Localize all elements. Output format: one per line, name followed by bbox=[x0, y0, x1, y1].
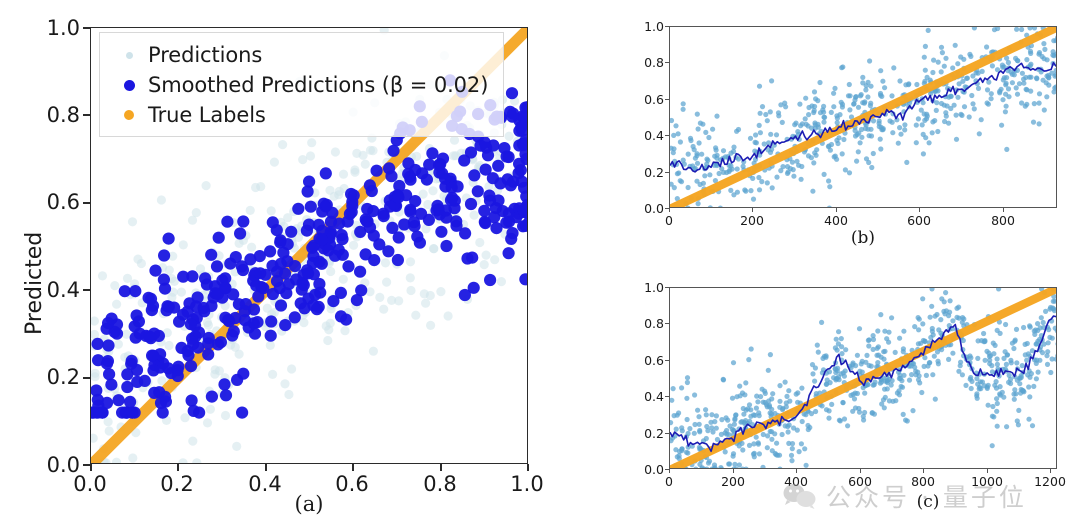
panel-a-xtickmark bbox=[265, 464, 267, 471]
legend-item-predictions[interactable]: Predictions bbox=[110, 40, 489, 70]
panel-a-xtickmark bbox=[440, 464, 442, 471]
legend-item-smoothed[interactable]: Smoothed Predictions (β = 0.02) bbox=[110, 70, 489, 100]
panel-c-xtick-5: 1000 bbox=[967, 474, 1007, 489]
figure-root: Predicted 1.0 0.8 0.6 0.4 0.2 0.0 0.0 0.… bbox=[0, 0, 1080, 529]
legend-label-true-labels: True Labels bbox=[148, 103, 266, 127]
panel-b-ytickmark bbox=[665, 99, 669, 100]
panel-c-xtickmark bbox=[796, 469, 797, 473]
panel-a-caption: (a) bbox=[279, 492, 339, 516]
legend-item-true-labels[interactable]: True Labels bbox=[110, 100, 489, 130]
panel-b-ytickmark bbox=[665, 172, 669, 173]
panel-b-ytick-0: 1.0 bbox=[620, 19, 664, 34]
panel-a-ytickmark bbox=[83, 202, 90, 204]
panel-b-ytick-3: 0.4 bbox=[620, 128, 664, 143]
panel-c: 1.0 0.8 0.6 0.4 0.2 0.0 0 200 400 600 80… bbox=[620, 260, 1080, 529]
panel-a-ytickmark bbox=[83, 289, 90, 291]
panel-c-plot-area bbox=[669, 287, 1057, 469]
panel-a-xtick-4: 0.8 bbox=[410, 472, 470, 496]
panel-a-xtickmark bbox=[177, 464, 179, 471]
panel-a-ytick-1: 0.8 bbox=[20, 103, 80, 127]
panel-b-xtick-4: 800 bbox=[983, 213, 1023, 228]
panel-c-xtick-0: 0 bbox=[649, 474, 689, 489]
panel-c-ytick-2: 0.6 bbox=[620, 353, 664, 368]
panel-b-xtickmark bbox=[669, 208, 670, 212]
panel-a-xtick-0: 0.0 bbox=[60, 472, 120, 496]
panel-c-xtickmark bbox=[860, 469, 861, 473]
panel-c-ytickmark bbox=[665, 323, 669, 324]
panel-a-ytick-2: 0.6 bbox=[20, 190, 80, 214]
panel-c-xtickmark bbox=[923, 469, 924, 473]
panel-c-ytickmark bbox=[665, 396, 669, 397]
panel-b-caption: (b) bbox=[833, 228, 893, 248]
panel-a-ytickmark bbox=[83, 464, 90, 466]
panel-c-ytick-1: 0.8 bbox=[620, 316, 664, 331]
panel-c-xtickmark bbox=[987, 469, 988, 473]
panel-c-xtick-4: 800 bbox=[903, 474, 943, 489]
panel-a: Predicted 1.0 0.8 0.6 0.4 0.2 0.0 0.0 0.… bbox=[0, 0, 560, 529]
legend-label-smoothed: Smoothed Predictions (β = 0.02) bbox=[148, 73, 488, 97]
panel-c-ytickmark bbox=[665, 360, 669, 361]
panel-c-caption: (c) bbox=[898, 492, 958, 512]
panel-a-xtick-1: 0.2 bbox=[147, 472, 207, 496]
panel-a-xtickmark bbox=[90, 464, 92, 471]
panel-b-xtick-0: 0 bbox=[649, 213, 689, 228]
panel-c-xtick-1: 200 bbox=[713, 474, 753, 489]
panel-b-plot-area bbox=[669, 26, 1057, 208]
panel-c-ytick-3: 0.4 bbox=[620, 389, 664, 404]
panel-b-xtickmark bbox=[1003, 208, 1004, 212]
panel-c-xtick-6: 1200 bbox=[1030, 474, 1070, 489]
panel-b-canvas bbox=[670, 27, 1057, 208]
panel-b-ytickmark bbox=[665, 62, 669, 63]
panel-a-xtickmark bbox=[352, 464, 354, 471]
legend-label-predictions: Predictions bbox=[148, 43, 262, 67]
legend-dot-icon bbox=[110, 52, 148, 59]
panel-b-xtickmark bbox=[836, 208, 837, 212]
panel-b-ytickmark bbox=[665, 26, 669, 27]
panel-b-xtickmark bbox=[752, 208, 753, 212]
panel-b-ytick-4: 0.2 bbox=[620, 165, 664, 180]
chart-legend: Predictions Smoothed Predictions (β = 0.… bbox=[99, 32, 504, 137]
panel-b-xtick-1: 200 bbox=[732, 213, 772, 228]
panel-c-xtickmark bbox=[669, 469, 670, 473]
panel-b-ytick-2: 0.6 bbox=[620, 92, 664, 107]
panel-c-ytickmark bbox=[665, 287, 669, 288]
panel-a-ytickmark bbox=[83, 27, 90, 29]
panel-a-ytickmark bbox=[83, 114, 90, 116]
panel-b-xtick-2: 400 bbox=[816, 213, 856, 228]
series-true-labels bbox=[670, 27, 1057, 208]
panel-a-ytick-0: 1.0 bbox=[20, 16, 80, 40]
panel-b-ytick-1: 0.8 bbox=[620, 55, 664, 70]
legend-dot-icon bbox=[110, 110, 148, 120]
panel-b-ytickmark bbox=[665, 135, 669, 136]
panel-c-ytickmark bbox=[665, 433, 669, 434]
panel-c-ytick-4: 0.2 bbox=[620, 426, 664, 441]
panel-a-xtick-5: 1.0 bbox=[497, 472, 557, 496]
panel-b: 1.0 0.8 0.6 0.4 0.2 0.0 0 200 400 600 80… bbox=[620, 0, 1080, 255]
panel-c-xtickmark bbox=[1050, 469, 1051, 473]
panel-a-ytickmark bbox=[83, 377, 90, 379]
panel-a-xtickmark bbox=[527, 464, 529, 471]
panel-c-ytick-0: 1.0 bbox=[620, 280, 664, 295]
panel-c-xtick-2: 400 bbox=[776, 474, 816, 489]
panel-a-ytick-4: 0.2 bbox=[20, 365, 80, 389]
panel-a-ytick-3: 0.4 bbox=[20, 278, 80, 302]
panel-b-xtickmark bbox=[919, 208, 920, 212]
panel-c-xtickmark bbox=[733, 469, 734, 473]
legend-dot-icon bbox=[110, 80, 148, 91]
panel-c-canvas bbox=[670, 288, 1057, 469]
panel-c-xtick-3: 600 bbox=[840, 474, 880, 489]
panel-b-xtick-3: 600 bbox=[899, 213, 939, 228]
